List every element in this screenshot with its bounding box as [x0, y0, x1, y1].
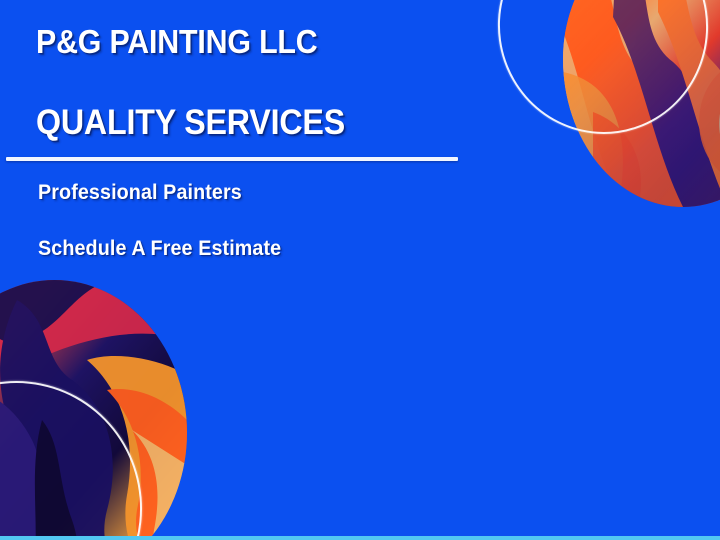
- horizontal-divider: [6, 157, 458, 161]
- marble-paint-swirl-icon: [563, 0, 720, 207]
- presentation-slide: P&G PAINTING LLC QUALITY SERVICES Profes…: [0, 0, 720, 540]
- service-headline: QUALITY SERVICES: [36, 103, 345, 143]
- bottom-accent-strip: [0, 536, 720, 540]
- company-name-heading: P&G PAINTING LLC: [36, 23, 318, 61]
- top-right-ring-outline: [484, 0, 720, 148]
- tagline-professional-painters: Professional Painters: [38, 180, 242, 206]
- tagline-schedule-estimate: Schedule A Free Estimate: [38, 236, 281, 262]
- slide-text-content: P&G PAINTING LLC QUALITY SERVICES Profes…: [0, 0, 470, 540]
- top-right-marble-blob: [563, 0, 720, 207]
